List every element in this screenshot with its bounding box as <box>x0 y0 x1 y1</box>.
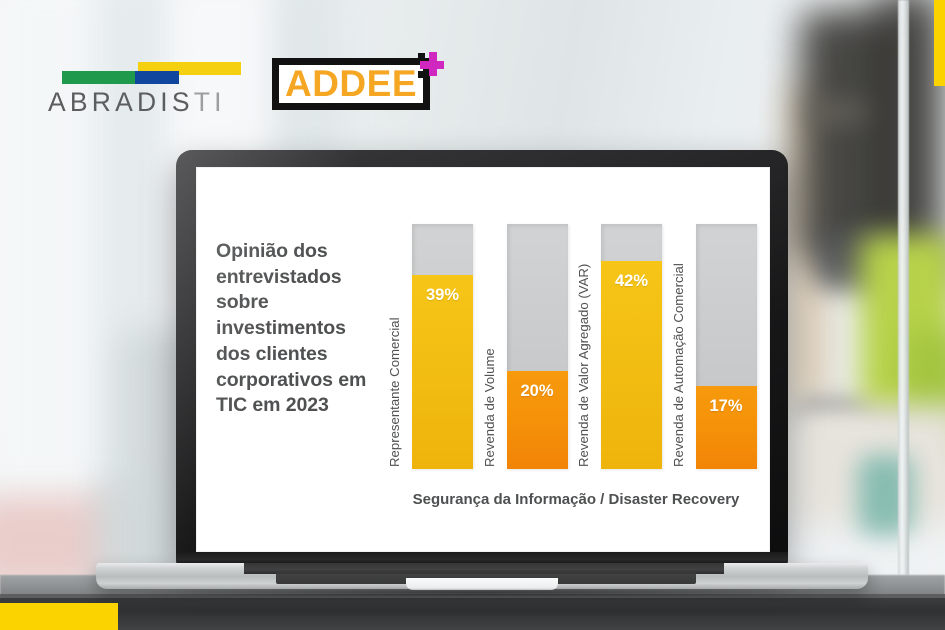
addee-cross-vertical <box>429 52 437 76</box>
bar-category-label-4: Revenda de Automação Comercial <box>670 209 692 469</box>
bar-column-group: Revenda de Volume 20% <box>481 209 576 469</box>
abradisti-logo: ABRADISTI <box>48 62 238 117</box>
addee-cross-black-2 <box>418 71 427 78</box>
bar-track-1: 39% <box>412 224 473 469</box>
laptop-drop-shadow <box>120 588 840 597</box>
bar-column-group: Representante Comercial 39% <box>386 209 481 469</box>
bar-category-text-4: Revenda de Automação Comercial <box>671 263 686 467</box>
bar-track-3: 42% <box>601 224 662 469</box>
addee-cross-icon <box>418 50 448 80</box>
bar-column-group: Revenda de Automação Comercial 17% <box>670 209 765 469</box>
logo-bar: ABRADISTI ADDEE <box>0 0 945 140</box>
abradisti-wordmark-strong: ABRADIS <box>48 87 194 117</box>
bar-category-label-3: Revenda de Valor Agregado (VAR) <box>575 209 597 469</box>
bar-category-text-2: Revenda de Volume <box>482 348 497 467</box>
bar-fill-4: 17% <box>696 386 757 469</box>
accent-bar-top-right <box>934 0 945 86</box>
bar-category-label-2: Revenda de Volume <box>481 209 503 469</box>
bar-fill-2: 20% <box>507 371 568 469</box>
accent-bar-bottom-left <box>0 603 118 630</box>
slide-title: Opinião dos entrevistados sobre investim… <box>216 239 381 419</box>
abradisti-wordmark: ABRADISTI <box>48 88 238 117</box>
bar-category-label-1: Representante Comercial <box>386 209 408 469</box>
bar-chart-columns: Representante Comercial 39% Revenda de V… <box>386 209 764 469</box>
bar-value-label-4: 17% <box>709 397 742 416</box>
chart-footer-label: Segurança da Informação / Disaster Recov… <box>376 491 770 508</box>
bar-track-2: 20% <box>507 224 568 469</box>
abradisti-flag-bars-icon <box>48 62 230 84</box>
bar-value-label-1: 39% <box>426 286 459 305</box>
bar-chart: Representante Comercial 39% Revenda de V… <box>386 209 764 519</box>
bar-fill-1: 39% <box>412 275 473 469</box>
addee-logo: ADDEE <box>272 58 430 110</box>
abradisti-wordmark-light: TI <box>194 87 226 117</box>
abradisti-bar-blue <box>135 71 179 84</box>
bar-category-text-1: Representante Comercial <box>387 317 402 467</box>
bar-category-text-3: Revenda de Valor Agregado (VAR) <box>576 264 591 467</box>
bar-column-group: Revenda de Valor Agregado (VAR) 42% <box>575 209 670 469</box>
bar-track-4: 17% <box>696 224 757 469</box>
addee-cross-black-1 <box>418 53 425 60</box>
bar-value-label-3: 42% <box>615 272 648 291</box>
bar-value-label-2: 20% <box>520 382 553 401</box>
bar-fill-3: 42% <box>601 261 662 469</box>
addee-wordmark: ADDEE <box>285 65 417 102</box>
presentation-slide: Opinião dos entrevistados sobre investim… <box>196 167 770 552</box>
